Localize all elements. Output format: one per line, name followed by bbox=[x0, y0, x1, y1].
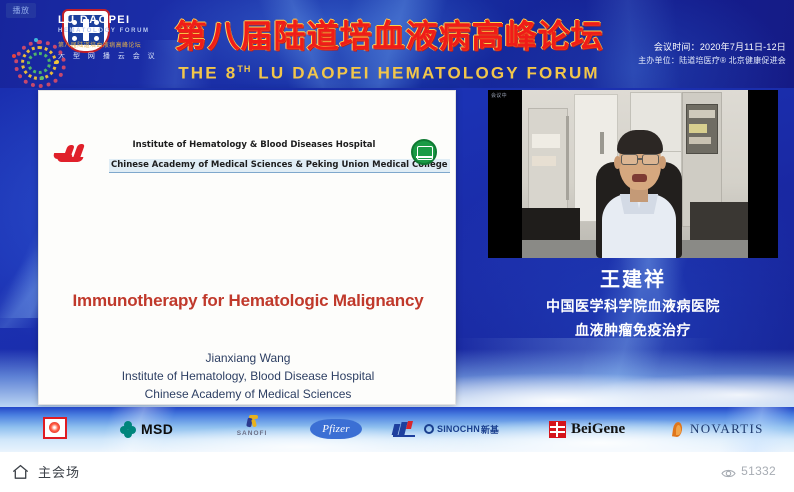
sponsor-label: SINOCHN bbox=[437, 424, 480, 434]
speaker-name: 王建祥 bbox=[488, 266, 778, 294]
ihcams-logo bbox=[51, 141, 101, 167]
cabinet-item bbox=[689, 124, 707, 133]
sponsor-sinochn-logo[interactable]: SINOCHN 新基 bbox=[424, 417, 499, 441]
shelf-rod bbox=[566, 116, 569, 200]
sponsor-sanofi-logo[interactable]: SANOFI bbox=[222, 415, 282, 443]
presentation-slide[interactable]: Institute of Hematology & Blood Diseases… bbox=[38, 90, 456, 405]
slide-institution: Institute of Hematology & Blood Diseases… bbox=[109, 139, 399, 173]
video-letterbox-left bbox=[488, 90, 522, 258]
speaker-organization: 中国医学科学院血液病医院 bbox=[488, 294, 778, 318]
logo-inner-ring bbox=[27, 52, 51, 74]
swoosh-shape bbox=[57, 157, 84, 162]
slide-author-block: Jianxiang Wang Institute of Hematology, … bbox=[39, 349, 457, 403]
door-handle bbox=[600, 132, 604, 154]
sponsor-label: NOVARTIS bbox=[690, 421, 764, 437]
speaker-topic: 血液肿瘤免疫治疗 bbox=[488, 318, 778, 342]
sponsor-bar: MSD SANOFI Pfizer SINOCHN 新基 bbox=[0, 407, 794, 452]
sponsor-label-cn: 新基 bbox=[481, 423, 499, 436]
glasses-lens bbox=[642, 154, 659, 165]
main-venue-label: 主会场 bbox=[38, 462, 80, 481]
slide-title: Immunotherapy for Hematologic Malignancy bbox=[39, 291, 457, 311]
speaker-hair bbox=[617, 130, 663, 154]
sponsor-novartis-logo[interactable]: NOVARTIS bbox=[670, 417, 764, 441]
logo-dot bbox=[34, 38, 38, 42]
logo-dot bbox=[40, 76, 44, 80]
webinar-player: 播放 LU DAOPEI HEMATOLOGY FORUM 第八届陆道培血液病高… bbox=[0, 0, 794, 492]
sponsor-beigene-logo[interactable]: BeiGene bbox=[549, 417, 625, 441]
forum-logo-name-cn: 第八届陆道培血液病高峰论坛 bbox=[58, 40, 141, 49]
sinochn-mark-icon bbox=[424, 424, 434, 434]
banner-title-cn: 第八届陆道培血液病高峰论坛 bbox=[164, 15, 614, 57]
novartis-flame-icon bbox=[670, 421, 685, 438]
subtitle-pre: THE 8 bbox=[178, 64, 237, 83]
view-count-block: 51332 bbox=[721, 464, 776, 478]
glasses-lens bbox=[621, 154, 638, 165]
banner-title-en: THE 8TH LU DAOPEI HEMATOLOGY FORUM bbox=[164, 58, 614, 80]
forum-logo-subtitle: HEMATOLOGY FORUM bbox=[58, 28, 150, 34]
sponsor-pfizer-logo[interactable]: Pfizer bbox=[310, 419, 362, 439]
slide-header: Institute of Hematology & Blood Diseases… bbox=[39, 139, 457, 173]
video-letterbox-right bbox=[748, 90, 778, 258]
slide-affiliation-2: Chinese Academy of Medical Sciences bbox=[39, 385, 457, 403]
health-promotion-logo bbox=[10, 40, 68, 82]
logo-dot bbox=[12, 54, 16, 58]
eye-icon bbox=[721, 466, 736, 477]
bottom-toolbar: 主会场 51332 bbox=[0, 452, 794, 492]
speaker-ear bbox=[614, 156, 621, 169]
sponsor-label: BeiGene bbox=[571, 421, 625, 438]
speaker-ear bbox=[659, 156, 666, 169]
sponsor-red-square-logo[interactable] bbox=[43, 417, 69, 441]
video-scene bbox=[522, 90, 748, 258]
forum-logo-name-cn2: 大 型 网 播 云 会 议 bbox=[58, 51, 158, 61]
sanofi-mark-icon bbox=[245, 415, 259, 428]
subtitle-post: LU DAOPEI HEMATOLOGY FORUM bbox=[251, 64, 599, 83]
stream-watermark: 播放 bbox=[6, 3, 36, 18]
slide-affiliation-1: Institute of Hematology, Blood Disease H… bbox=[39, 367, 457, 385]
red-sphere-icon bbox=[49, 422, 60, 433]
event-banner: 播放 LU DAOPEI HEMATOLOGY FORUM 第八届陆道培血液病高… bbox=[0, 0, 794, 88]
ht-mark-icon bbox=[393, 421, 417, 437]
sponsor-ht-logo[interactable] bbox=[393, 417, 420, 441]
speaker-mouth bbox=[632, 174, 647, 182]
glasses-bridge bbox=[638, 158, 642, 160]
view-count: 51332 bbox=[741, 464, 776, 478]
main-venue-button[interactable]: 主会场 bbox=[12, 462, 80, 481]
meeting-info-block: 会议时间：2020年7月11日-12日 主办单位：陆道培医疗® 北京健康促进会 bbox=[616, 40, 786, 67]
cabinet-item bbox=[689, 137, 711, 144]
sponsor-msd-logo[interactable]: MSD bbox=[120, 417, 173, 441]
institution-line-1: Institute of Hematology & Blood Diseases… bbox=[109, 139, 399, 152]
sponsor-label: MSD bbox=[141, 421, 173, 437]
shelf-item bbox=[532, 156, 556, 166]
cabinet-item bbox=[689, 110, 715, 118]
home-icon bbox=[12, 464, 29, 480]
institution-line-2: Chinese Academy of Medical Sciences & Pe… bbox=[109, 159, 450, 173]
video-overlay-label: 会议中 bbox=[491, 92, 507, 99]
pumc-logo bbox=[411, 139, 437, 165]
slide-author-name: Jianxiang Wang bbox=[39, 349, 457, 367]
sponsor-label: Pfizer bbox=[310, 419, 362, 439]
subtitle-ordinal: TH bbox=[237, 64, 251, 74]
msd-mark-icon bbox=[120, 421, 136, 437]
sponsor-label: SANOFI bbox=[237, 430, 268, 437]
speaker-caption: 王建祥 中国医学科学院血液病医院 血液肿瘤免疫治疗 bbox=[488, 266, 778, 342]
forum-logo-name-en: LU DAOPEI bbox=[58, 14, 131, 26]
meeting-time: 会议时间：2020年7月11日-12日 bbox=[616, 40, 786, 54]
shelf-item bbox=[532, 134, 560, 148]
beigene-mark-icon bbox=[549, 421, 566, 438]
logo-dot bbox=[55, 60, 59, 64]
speaker-video[interactable]: 会议中 bbox=[488, 90, 778, 258]
pumc-logo-bar bbox=[416, 156, 432, 158]
meeting-organizer: 主办单位：陆道培医疗® 北京健康促进会 bbox=[616, 54, 786, 67]
